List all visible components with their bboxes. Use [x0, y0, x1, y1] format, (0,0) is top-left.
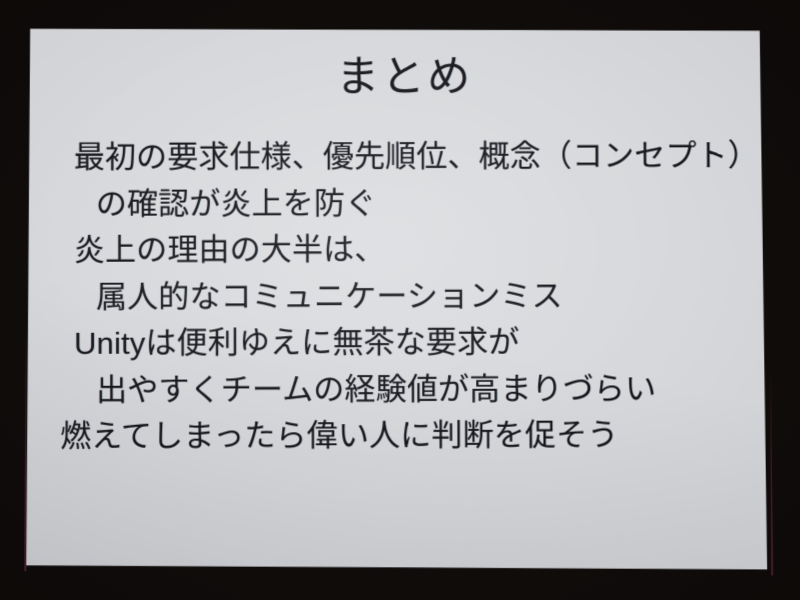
slide-body-line: 属人的なコミュニケーションミス	[26, 273, 766, 321]
slide-title: まとめ	[26, 53, 765, 102]
projection-area: まとめ 最初の要求仕様、優先順位、概念（コンセプト）の確認が炎上を防ぐ炎上の理由…	[0, 0, 800, 600]
projected-slide-photo: まとめ 最初の要求仕様、優先順位、概念（コンセプト）の確認が炎上を防ぐ炎上の理由…	[0, 0, 800, 600]
slide-body-line: 最初の要求仕様、優先順位、概念（コンセプト）	[26, 133, 766, 181]
slide-content: まとめ 最初の要求仕様、優先順位、概念（コンセプト）の確認が炎上を防ぐ炎上の理由…	[26, 21, 767, 575]
slide-body-line: の確認が炎上を防ぐ	[26, 180, 766, 228]
slide-body-line: 出やすくチームの経験値が高まりづらい	[26, 366, 766, 414]
slide-surface: まとめ 最初の要求仕様、優先順位、概念（コンセプト）の確認が炎上を防ぐ炎上の理由…	[26, 21, 767, 575]
slide-body: 最初の要求仕様、優先順位、概念（コンセプト）の確認が炎上を防ぐ炎上の理由の大半は…	[26, 133, 767, 460]
slide-body-line: Unityは便利ゆえに無茶な要求が	[26, 319, 766, 367]
slide-body-line: 炎上の理由の大半は、	[26, 226, 766, 274]
slide-body-line: 燃えてしまったら偉い人に判断を促そう	[26, 412, 767, 460]
